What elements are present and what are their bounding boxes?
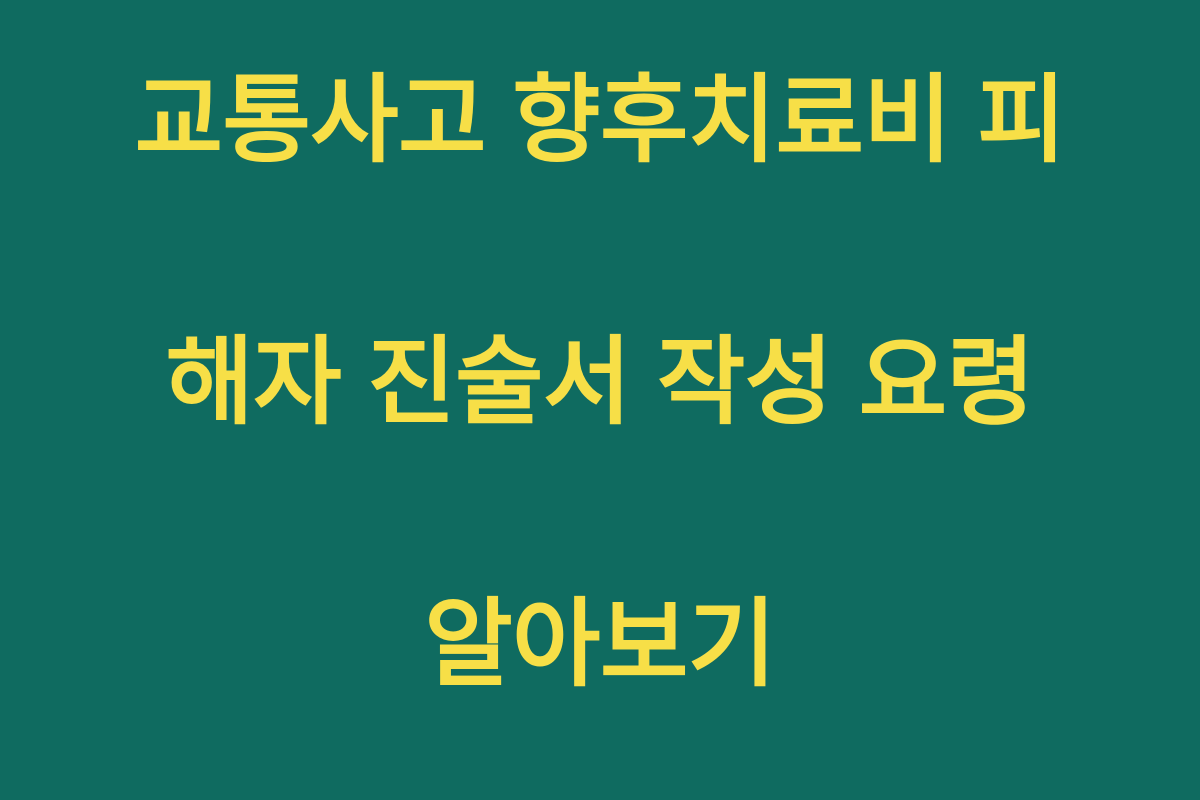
headline-block: 교통사고 향후치료비 피 해자 진술서 작성 요령 알아보기 (70, 0, 1130, 800)
headline-line-3: 알아보기 (80, 579, 1120, 710)
thumbnail-card: 교통사고 향후치료비 피 해자 진술서 작성 요령 알아보기 (0, 0, 1200, 800)
page-title: 교통사고 향후치료비 피 해자 진술서 작성 요령 알아보기 (80, 0, 1120, 800)
headline-line-2: 해자 진술서 작성 요령 (80, 317, 1120, 448)
headline-line-1: 교통사고 향후치료비 피 (80, 55, 1120, 186)
